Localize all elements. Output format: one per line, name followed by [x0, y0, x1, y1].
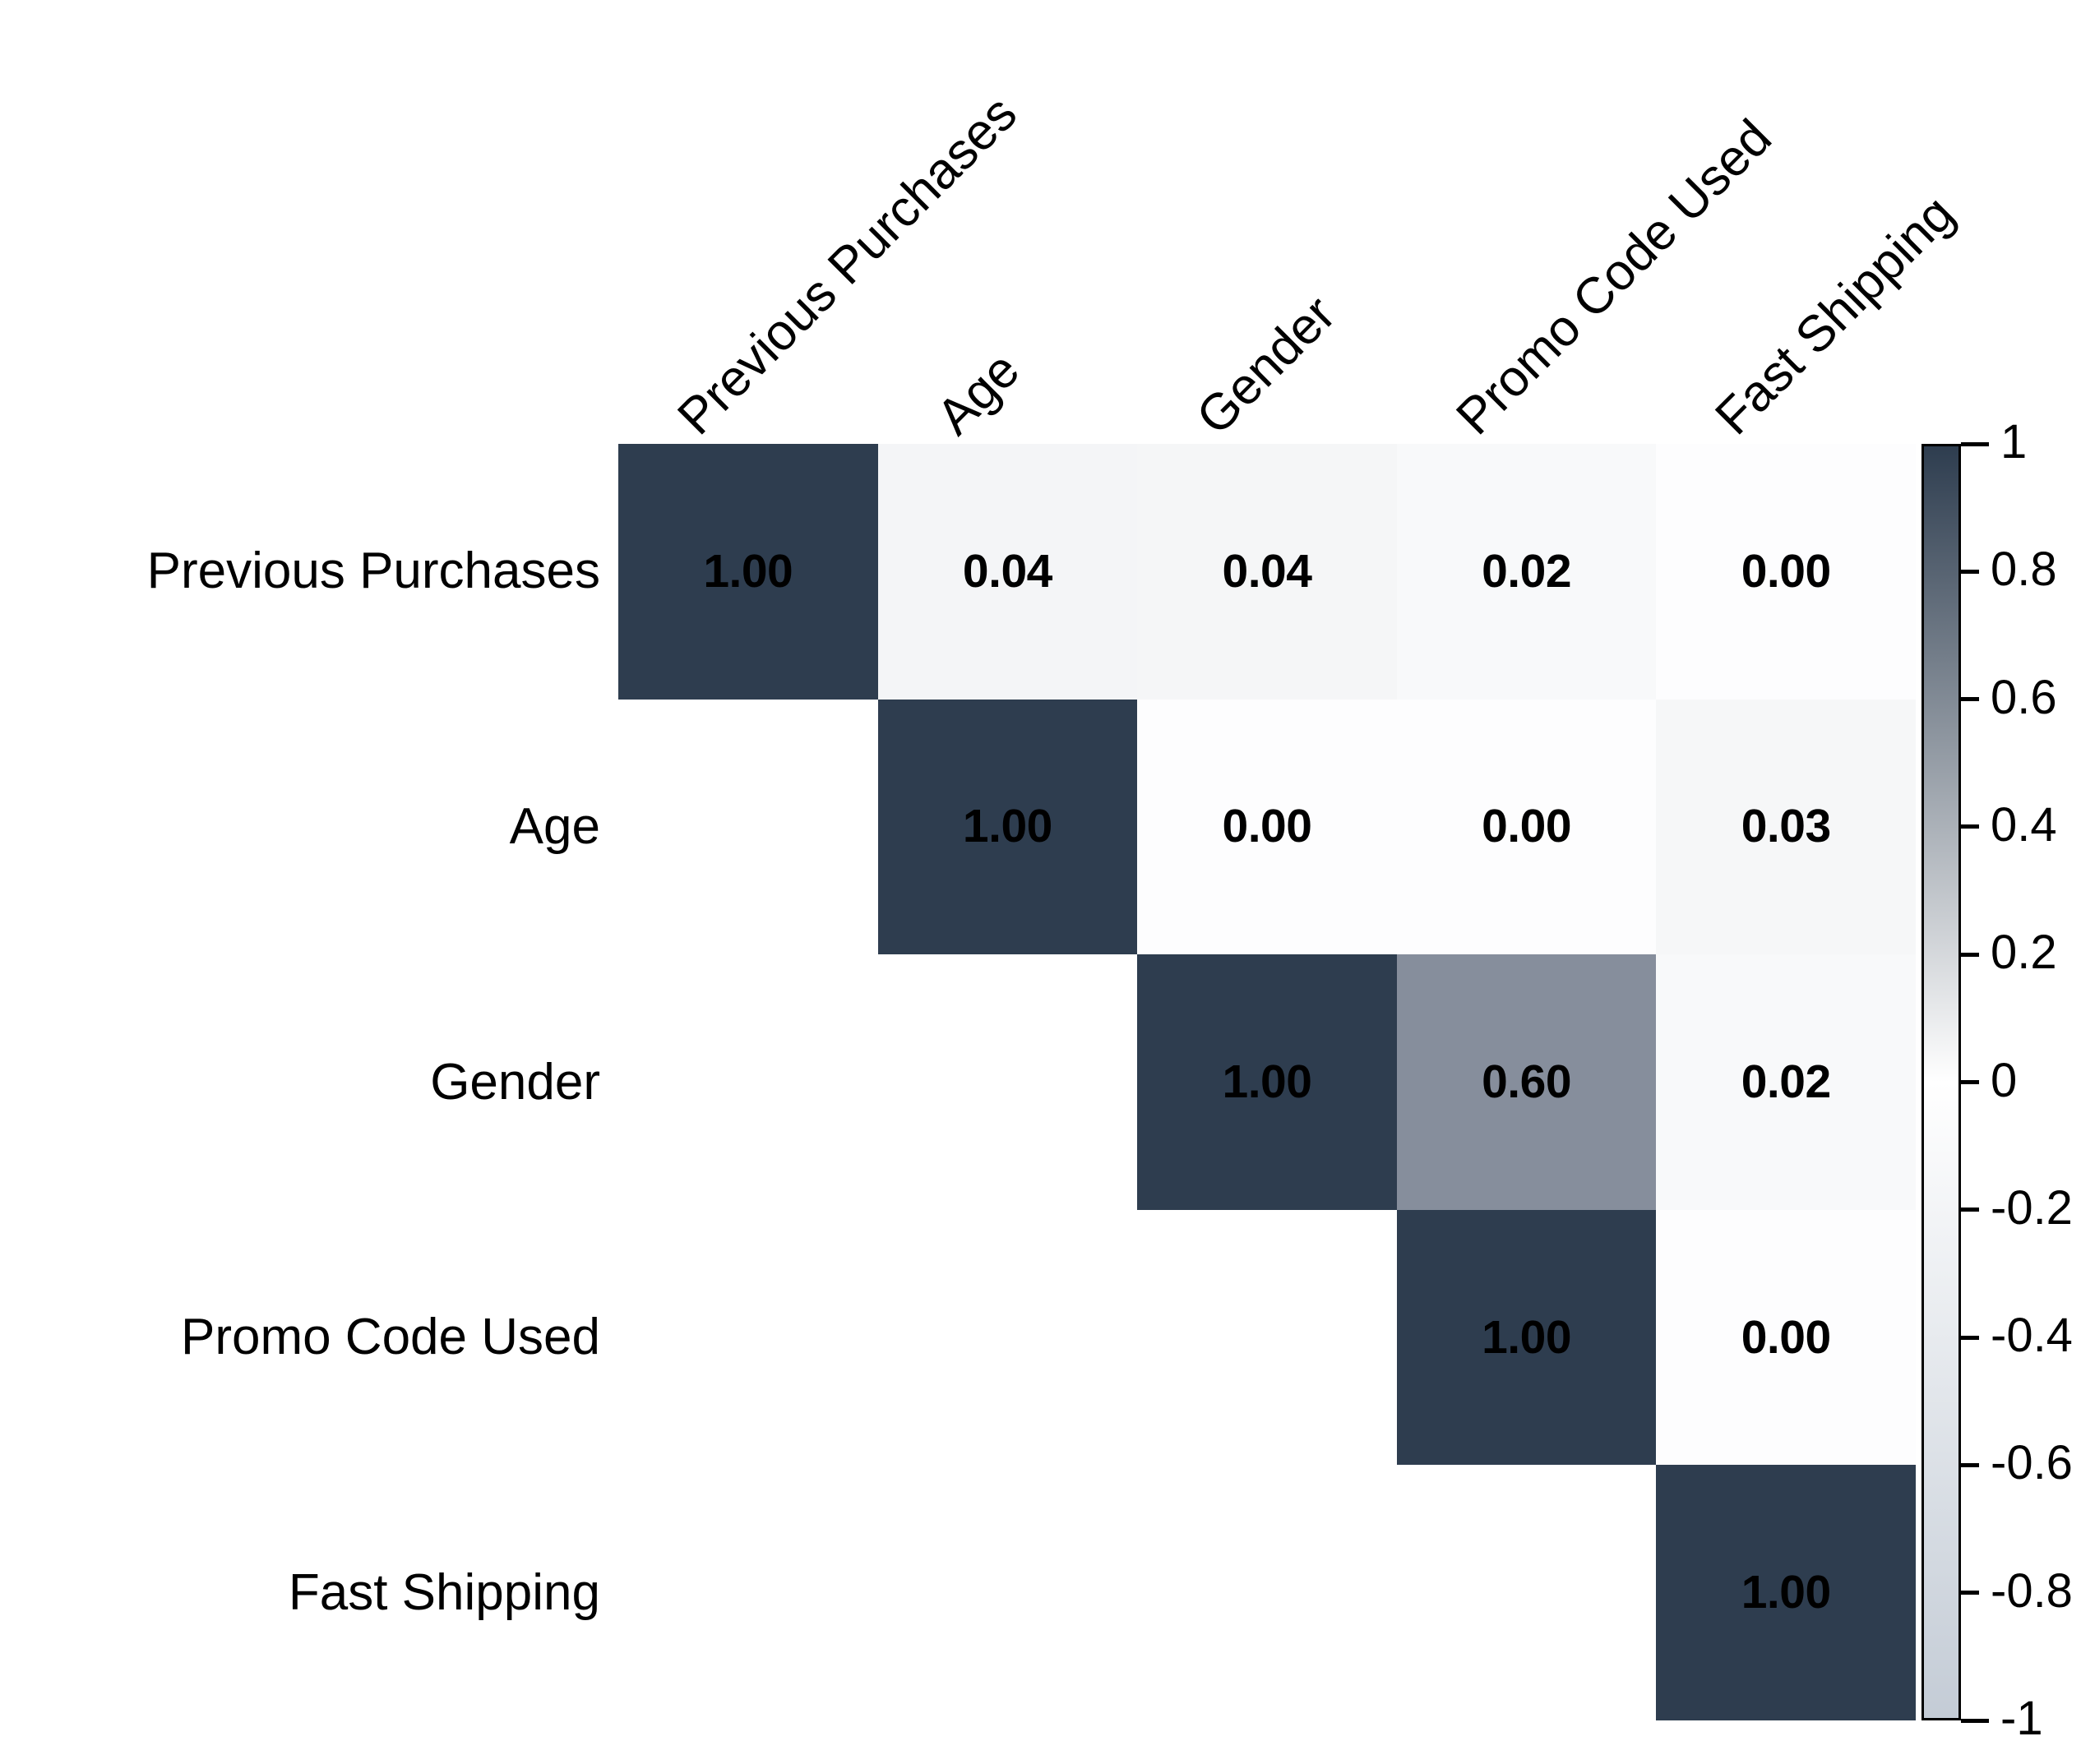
column-axis-labels: Previous PurchasesAgeGenderPromo Code Us…: [618, 0, 1916, 444]
heatmap-cell-value: 0.04: [963, 548, 1052, 595]
heatmap-cell-value: 0.00: [1741, 1314, 1831, 1361]
tick-mark: [1961, 1463, 1979, 1467]
row-label-gender: Gender: [430, 1057, 600, 1108]
heatmap-cell: 1.00: [1397, 1210, 1657, 1466]
heatmap-cell-value: 0.02: [1741, 1059, 1831, 1106]
tick-mark: [1961, 1336, 1979, 1340]
colorbar-tick-label: 0: [1991, 1057, 2017, 1105]
heatmap-cell: 0.02: [1656, 954, 1916, 1210]
heatmap-cell: 1.00: [878, 700, 1138, 955]
heatmap-grid: 1.000.040.040.020.001.000.000.000.031.00…: [618, 444, 1916, 1720]
heatmap-cell-value: 1.00: [1482, 1314, 1571, 1361]
heatmap-cell: 0.00: [1656, 1210, 1916, 1466]
heatmap-cell-value: 1.00: [963, 803, 1052, 850]
heatmap-cell-value: 0.04: [1223, 548, 1312, 595]
heatmap-cell-value: 1.00: [1741, 1569, 1831, 1616]
colorbar-gradient: [1921, 444, 1961, 1720]
colorbar-tick-label: 0.2: [1991, 929, 2057, 977]
tick-mark: [1961, 1591, 1979, 1595]
tick-mark: [1961, 442, 1989, 446]
heatmap-cell: 0.60: [1397, 954, 1657, 1210]
row-label-previous-purchases: Previous Purchases: [147, 546, 600, 597]
tick-mark: [1961, 824, 1979, 829]
colorbar-tick-label: 0.8: [1991, 546, 2057, 593]
heatmap-cell: 0.03: [1656, 700, 1916, 955]
colorbar-tick-labels: 10.80.60.40.20-0.2-0.4-0.6-0.8-1: [1961, 444, 2081, 1720]
heatmap-cell: 0.04: [878, 444, 1138, 700]
column-label-fast-shipping: Fast Shipping: [1707, 187, 1963, 444]
colorbar-tick-label: 1: [2000, 418, 2027, 466]
colorbar-tick-label: -0.8: [1991, 1568, 2073, 1615]
heatmap-cell: 0.00: [1137, 700, 1397, 955]
heatmap-cell: 0.04: [1137, 444, 1397, 700]
heatmap-cell: 1.00: [1656, 1465, 1916, 1720]
colorbar-tick-label: -0.6: [1991, 1439, 2073, 1487]
colorbar: [1921, 444, 1961, 1720]
tick-mark: [1961, 1080, 1979, 1084]
colorbar-tick-label: 0.6: [1991, 674, 2057, 722]
column-label-age: Age: [929, 344, 1029, 444]
column-label-gender: Gender: [1188, 288, 1344, 444]
heatmap-cell-value: 1.00: [1223, 1059, 1312, 1106]
colorbar-tick-label: -1: [2000, 1695, 2043, 1743]
tick-mark: [1961, 953, 1979, 957]
tick-mark: [1961, 697, 1979, 701]
colorbar-tick-label: 0.4: [1991, 801, 2057, 849]
colorbar-tick-label: -0.4: [1991, 1312, 2073, 1360]
heatmap-cell: 0.00: [1397, 700, 1657, 955]
heatmap-cell-value: 0.60: [1482, 1059, 1571, 1106]
colorbar-tick-label: -0.2: [1991, 1184, 2073, 1232]
tick-mark: [1961, 1208, 1979, 1212]
heatmap-cell-value: 1.00: [703, 548, 793, 595]
tick-mark: [1961, 570, 1979, 574]
heatmap-cell-value: 0.03: [1741, 803, 1831, 850]
heatmap-cell-value: 0.00: [1482, 803, 1571, 850]
heatmap-cell: 1.00: [618, 444, 878, 700]
heatmap-cell: 0.00: [1656, 444, 1916, 700]
correlation-heatmap-figure: Previous PurchasesAgeGenderPromo Code Us…: [0, 0, 2081, 1764]
heatmap-cell: 1.00: [1137, 954, 1397, 1210]
heatmap-cell-value: 0.02: [1482, 548, 1571, 595]
heatmap-cell-value: 0.00: [1741, 548, 1831, 595]
row-label-fast-shipping: Fast Shipping: [289, 1568, 600, 1619]
row-label-age: Age: [510, 801, 600, 852]
heatmap-cell: 0.02: [1397, 444, 1657, 700]
row-label-promo-code-used: Promo Code Used: [181, 1312, 600, 1363]
tick-mark: [1961, 1719, 1989, 1723]
heatmap-cell-value: 0.00: [1223, 803, 1312, 850]
row-axis-labels: Previous PurchasesAgeGenderPromo Code Us…: [0, 444, 600, 1720]
